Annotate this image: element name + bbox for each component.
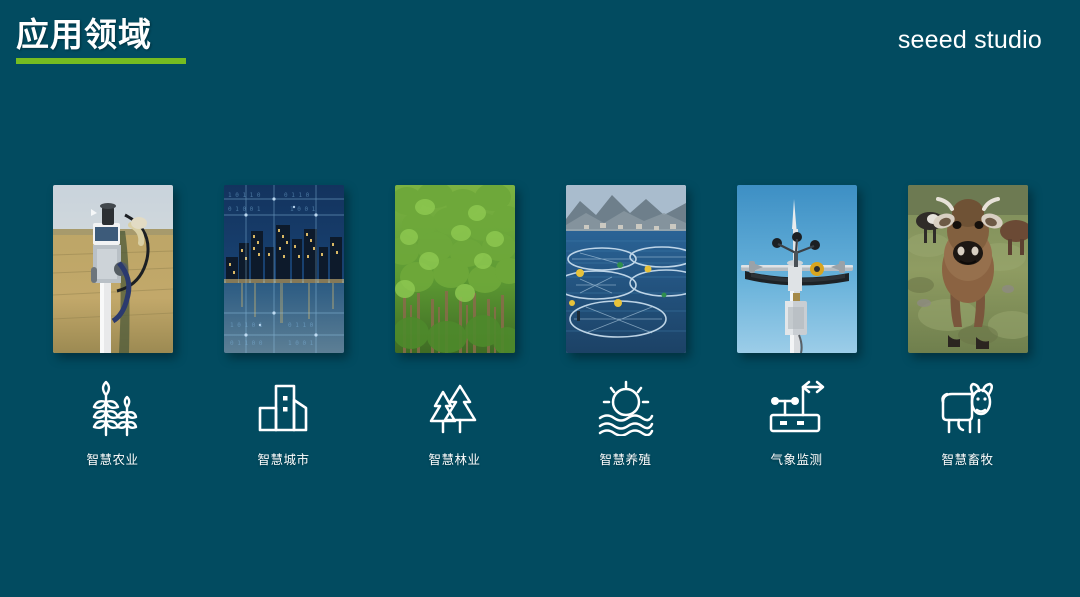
circular-fish-farm-pens-at-sea-photo	[566, 185, 686, 353]
svg-text:0 1 0 0 1: 0 1 0 0 1	[228, 206, 261, 213]
card-label: 智慧城市	[257, 449, 309, 468]
application-card-smart-agriculture[interactable]: 智慧农业	[53, 185, 173, 468]
card-label: 智慧农业	[86, 449, 138, 468]
agricultural-sensor-station-in-wheat-field-photo	[53, 185, 173, 353]
sun-over-waves-icon	[596, 377, 656, 439]
weather-station-anemometer-against-blue-sky-photo	[737, 185, 857, 353]
brown-cow-in-pasture-photo	[908, 185, 1028, 353]
title-underline-rule	[16, 58, 186, 64]
application-card-smart-aquaculture[interactable]: 智慧养殖	[566, 185, 686, 468]
night-city-skyline-with-data-overlay-photo: 1 0 1 1 00 1 1 0 0 1 0 0 11 0 0 1 1 0 1 …	[224, 185, 344, 353]
svg-text:1 0 0 1: 1 0 0 1	[290, 206, 316, 213]
slide-application-fields: 应用领域 seeed studio	[0, 0, 1080, 597]
svg-text:1 0 1 1 0: 1 0 1 1 0	[228, 192, 261, 199]
pine-trees-icon	[425, 377, 485, 439]
application-card-smart-city[interactable]: 1 0 1 1 00 1 1 0 0 1 0 0 11 0 0 1 1 0 1 …	[224, 185, 344, 468]
card-label: 智慧林业	[428, 449, 480, 468]
svg-text:0 1 1 0 0: 0 1 1 0 0	[230, 340, 263, 347]
svg-text:0 1 1 0: 0 1 1 0	[288, 322, 314, 329]
application-card-weather-monitoring[interactable]: 气象监测	[737, 185, 857, 468]
brand-logo: seeed studio	[898, 26, 1042, 55]
cow-icon	[937, 377, 999, 439]
svg-text:0 1 1 0: 0 1 1 0	[284, 192, 310, 199]
city-buildings-icon	[254, 377, 314, 439]
application-card-grid: 智慧农业	[0, 185, 1080, 485]
card-label: 智慧养殖	[599, 449, 651, 468]
application-card-smart-livestock[interactable]: 智慧畜牧	[908, 185, 1028, 468]
weather-station-icon	[767, 377, 827, 439]
page-title: 应用领域	[16, 14, 152, 56]
green-forest-plantation-photo	[395, 185, 515, 353]
wheat-stalks-icon	[82, 377, 144, 439]
card-label: 气象监测	[770, 449, 822, 468]
slide-header: 应用领域 seeed studio	[0, 0, 1080, 90]
svg-text:1 0 1 0 1: 1 0 1 0 1	[230, 322, 263, 329]
card-label: 智慧畜牧	[941, 449, 993, 468]
svg-text:1 0 0 1: 1 0 0 1	[288, 340, 314, 347]
application-card-smart-forestry[interactable]: 智慧林业	[395, 185, 515, 468]
